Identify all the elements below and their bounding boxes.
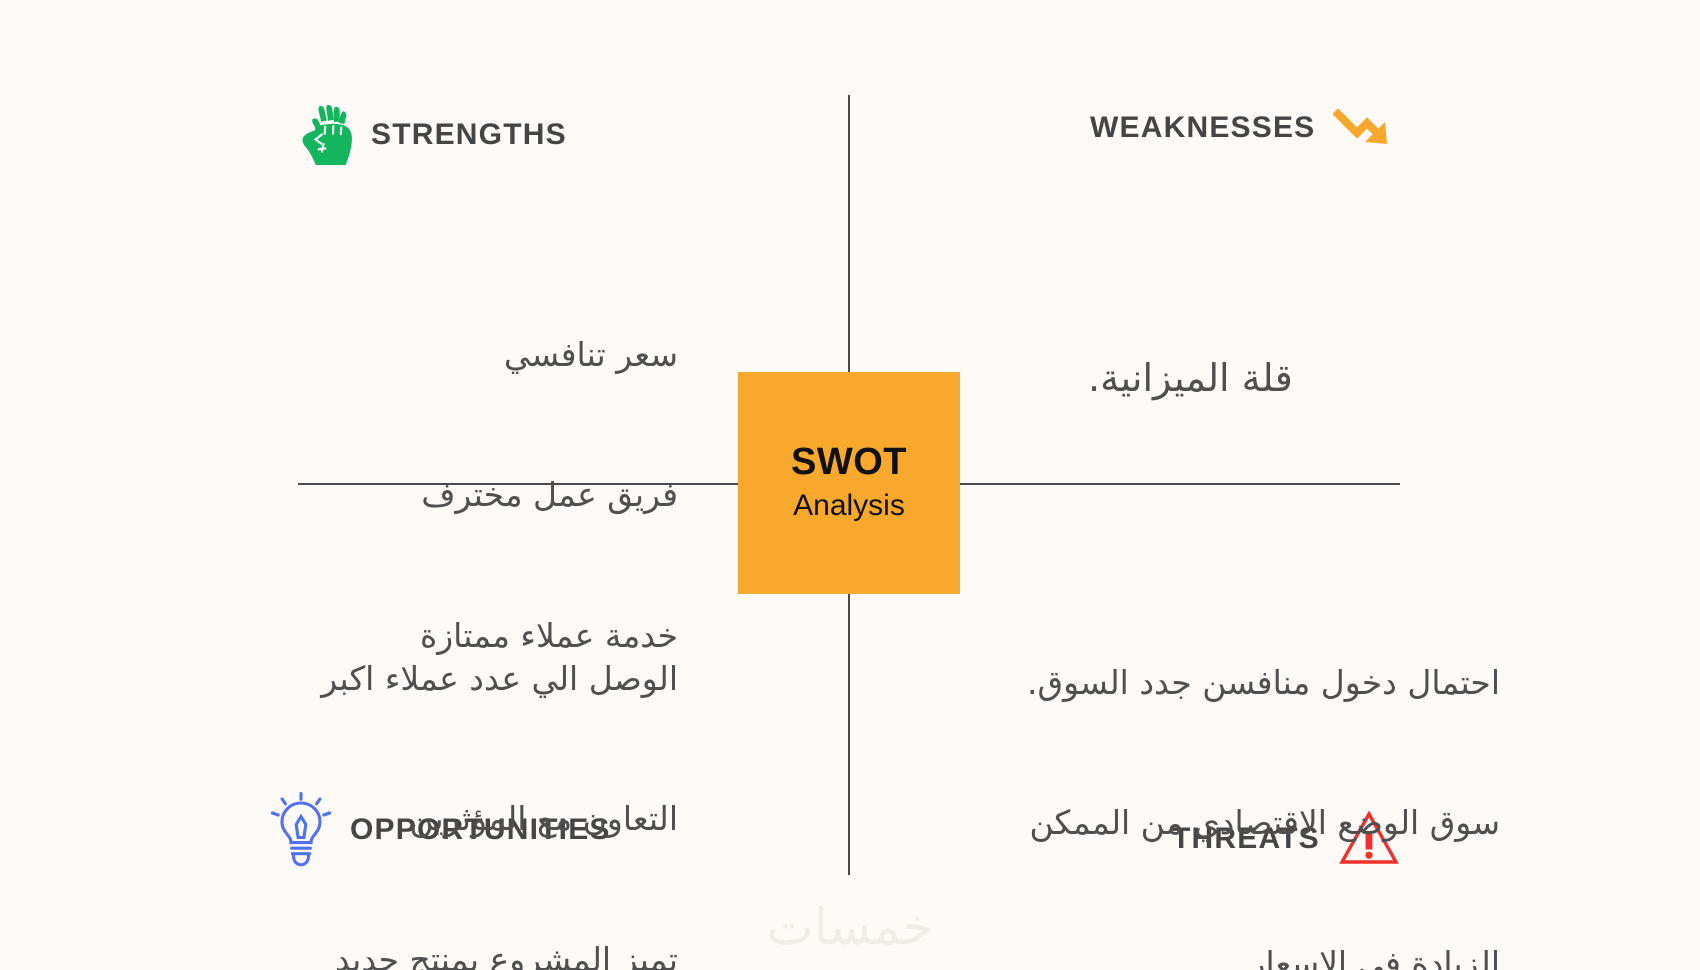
swot-diagram-canvas: SWOT Analysis bbox=[0, 0, 1700, 970]
swot-subtitle: Analysis bbox=[793, 486, 905, 525]
raised-fist-icon bbox=[299, 104, 353, 166]
list-item: قلة الميزانية. bbox=[1088, 352, 1293, 406]
list-item: سعر تنافسي bbox=[420, 332, 678, 379]
quadrant-label-strengths: STRENGTHS bbox=[371, 118, 567, 152]
quadrant-header-strengths: STRENGTHS bbox=[299, 104, 567, 166]
list-item: فريق عمل مخترف bbox=[420, 472, 678, 519]
quadrant-label-weaknesses: WEAKNESSES bbox=[1090, 111, 1315, 145]
watermark: خمسات bbox=[0, 898, 1700, 956]
list-item: الوصل الي عدد عملاء اكبر bbox=[321, 656, 678, 703]
swot-title: SWOT bbox=[791, 441, 907, 485]
downward-trend-arrow-icon bbox=[1333, 104, 1399, 152]
quadrant-text-weaknesses: قلة الميزانية. bbox=[1088, 244, 1293, 514]
quadrant-header-weaknesses: WEAKNESSES bbox=[1090, 104, 1399, 152]
list-item: التعاون مع المؤثرين bbox=[321, 796, 678, 843]
list-item: سوق الوضع الاقتصادي من الممكن bbox=[1010, 800, 1500, 847]
swot-center-badge: SWOT Analysis bbox=[738, 372, 960, 594]
list-item: احتمال دخول منافسن جدد السوق. bbox=[1010, 660, 1500, 707]
